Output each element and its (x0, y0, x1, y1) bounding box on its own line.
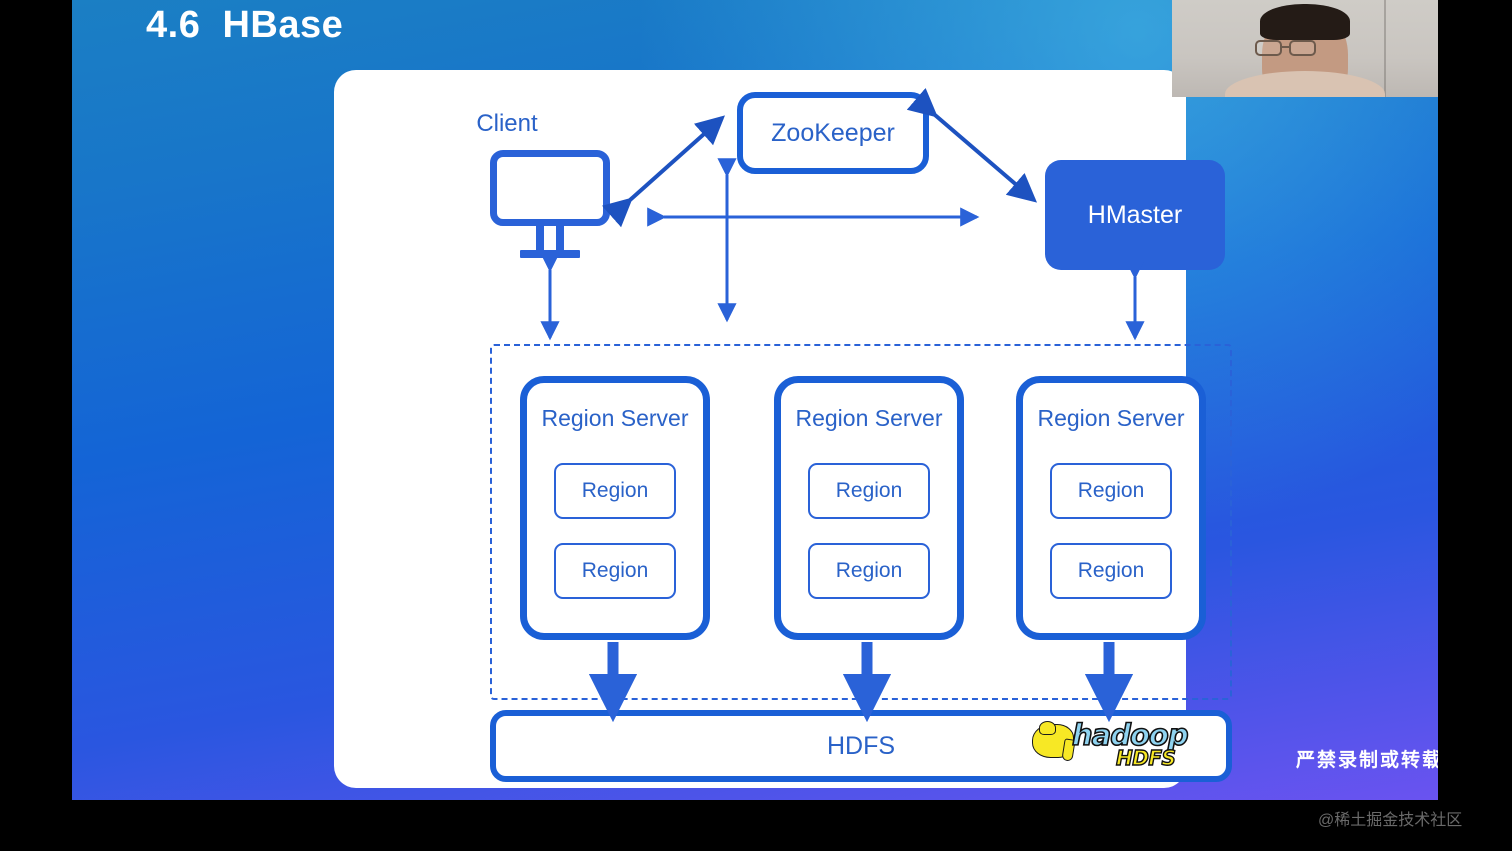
region-server-2: Region Server Region Region (774, 376, 964, 640)
webcam-background-line (1384, 0, 1386, 97)
region-servers-group: Region Server Region Region Region Serve… (490, 344, 1232, 700)
hmaster-node: HMaster (1045, 160, 1225, 270)
hdfs-node: HDFS hadoop HDFS (490, 710, 1232, 782)
region-server-title: Region Server (1023, 405, 1199, 432)
monitor-base (520, 250, 580, 258)
community-watermark: @稀土掘金技术社区 (1318, 806, 1462, 830)
hadoop-elephant-icon: hadoop HDFS (1032, 721, 1200, 771)
monitor-screen (490, 150, 610, 226)
zookeeper-node: ZooKeeper (737, 92, 929, 174)
region-box: Region (808, 463, 930, 519)
arrow-client-zookeeper (630, 118, 722, 200)
hadoop-hdfs-sublabel: HDFS (1116, 748, 1175, 768)
region-box: Region (1050, 463, 1172, 519)
no-record-notice: 严禁录制或转载 (1296, 745, 1438, 772)
client-label: Client (447, 110, 567, 138)
webcam-video[interactable] (1172, 0, 1438, 97)
webcam-hair (1260, 4, 1350, 40)
region-server-title: Region Server (527, 405, 703, 432)
region-box: Region (554, 543, 676, 599)
region-box: Region (808, 543, 930, 599)
arrow-zookeeper-hmaster (935, 115, 1034, 200)
region-server-3: Region Server Region Region (1016, 376, 1206, 640)
webcam-shoulders (1225, 71, 1385, 97)
region-server-title: Region Server (781, 405, 957, 432)
region-box: Region (554, 463, 676, 519)
screen-root: 4.6 HBase By 字 Client ZooKeeper HMaster (0, 0, 1512, 851)
elephant-shape (1032, 724, 1074, 758)
webcam-glasses-bridge (1282, 46, 1289, 48)
region-server-1: Region Server Region Region (520, 376, 710, 640)
diagram-card: Client ZooKeeper HMaster Region Server R… (334, 70, 1186, 788)
presentation-slide: 4.6 HBase By 字 Client ZooKeeper HMaster (72, 0, 1438, 800)
region-box: Region (1050, 543, 1172, 599)
slide-title: 4.6 HBase (146, 4, 343, 47)
webcam-glasses-right (1289, 40, 1316, 56)
webcam-glasses-left (1255, 40, 1282, 56)
monitor-icon (490, 150, 610, 260)
